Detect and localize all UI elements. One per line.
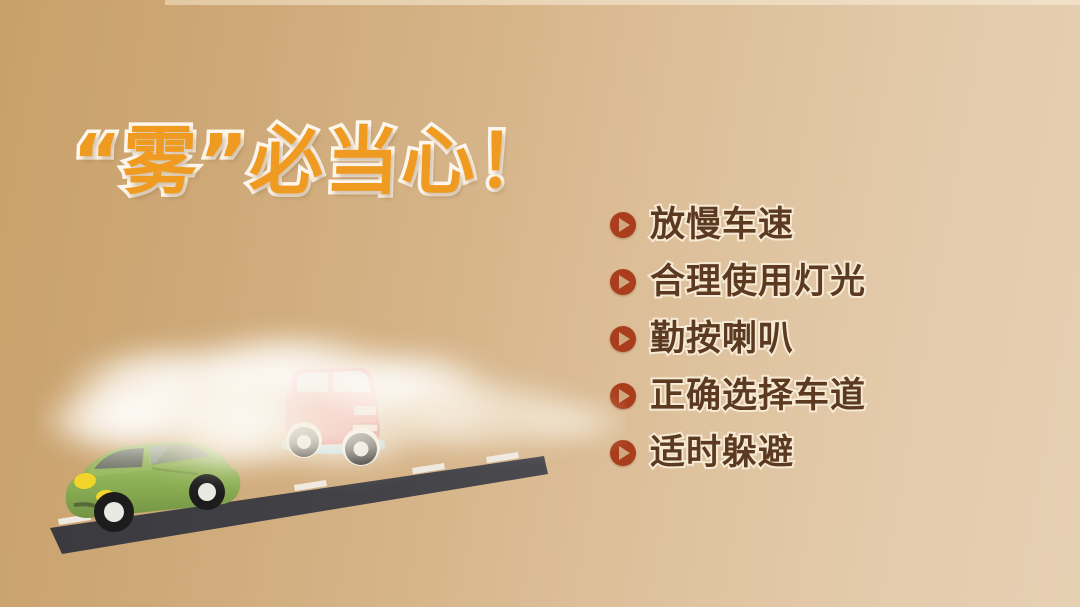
- fog-cloud: [36, 328, 626, 476]
- list-item-label: 合理使用灯光: [650, 262, 866, 302]
- list-item-label: 正确选择车道: [650, 376, 866, 416]
- play-triangle-icon: [610, 212, 636, 238]
- foggy-road-illustration: [36, 316, 626, 566]
- list-item: 勤按喇叭: [610, 310, 1030, 367]
- list-item: 合理使用灯光: [610, 253, 1030, 310]
- title-block: “雾”必当心！: [72, 112, 592, 218]
- list-item: 放慢车速: [610, 196, 1030, 253]
- list-item: 正确选择车道: [610, 367, 1030, 424]
- play-triangle-icon: [610, 269, 636, 295]
- list-item-label: 适时躲避: [650, 433, 794, 473]
- list-item-label: 勤按喇叭: [650, 319, 794, 359]
- list-item-label: 放慢车速: [650, 205, 794, 245]
- slide-canvas: “雾”必当心！ 放慢车速 合理使用灯光 勤按喇叭 正确选择车道 适时躲避: [0, 0, 1080, 607]
- page-title: “雾”必当心！: [70, 112, 593, 212]
- top-edge-strip: [165, 0, 1080, 5]
- safety-tips-list: 放慢车速 合理使用灯光 勤按喇叭 正确选择车道 适时躲避: [610, 196, 1030, 481]
- list-item: 适时躲避: [610, 424, 1030, 481]
